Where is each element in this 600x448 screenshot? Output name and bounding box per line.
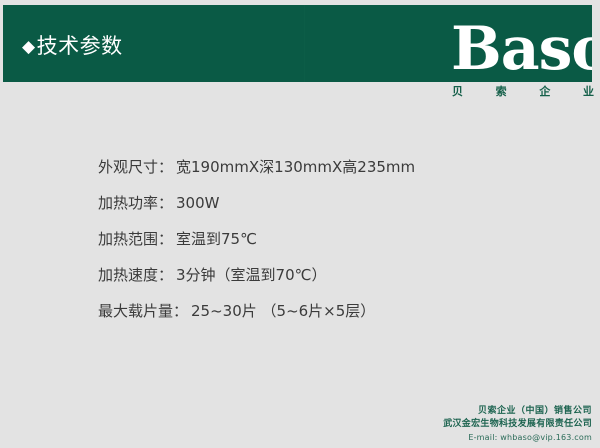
spec-value: 3分钟（室温到70℃） [176, 266, 326, 285]
slide-root: ◆技术参数 Baso 贝 索 企 业 外观尺寸：宽190mmX深130mmX高2… [0, 0, 600, 448]
baso-logo-wordmark: Baso [451, 17, 592, 81]
specification-list: 外观尺寸：宽190mmX深130mmX高235mm 加热功率：300W 加热范围… [98, 158, 538, 338]
footer-company-name: 贝索企业（中国）销售公司 [332, 405, 592, 418]
spec-value: 室温到75℃ [176, 230, 257, 249]
diamond-bullet-icon: ◆ [22, 37, 36, 57]
spec-row: 最大载片量：25~30片 （5~6片×5层） [98, 302, 538, 338]
spec-value: 25~30片 （5~6片×5层） [191, 302, 375, 321]
spec-row: 加热速度：3分钟（室温到70℃） [98, 266, 538, 302]
baso-logo-subtitle: 贝 索 企 业 [452, 85, 594, 99]
spec-label: 加热速度： [98, 266, 173, 285]
logo-subtitle-char-3: 业 [583, 85, 594, 99]
spec-label: 外观尺寸： [98, 158, 173, 177]
page-title: ◆技术参数 [22, 33, 123, 60]
spec-label: 最大载片量： [98, 302, 188, 321]
spec-label: 加热范围： [98, 230, 173, 249]
logo-subtitle-char-1: 索 [496, 85, 507, 99]
footer-entity-name: 武汉金宏生物科技发展有限责任公司 [332, 418, 592, 431]
header-band: ◆技术参数 Baso [3, 5, 592, 82]
spec-row: 加热范围：室温到75℃ [98, 230, 538, 266]
footer: 贝索企业（中国）销售公司 武汉金宏生物科技发展有限责任公司 E-mail: wh… [332, 405, 592, 444]
logo-subtitle-char-2: 企 [539, 85, 550, 99]
spec-value: 300W [176, 194, 219, 213]
spec-value: 宽190mmX深130mmX高235mm [176, 158, 415, 177]
spec-row: 外观尺寸：宽190mmX深130mmX高235mm [98, 158, 538, 194]
spec-label: 加热功率： [98, 194, 173, 213]
spec-row: 加热功率：300W [98, 194, 538, 230]
page-title-label: 技术参数 [37, 34, 123, 58]
logo-subtitle-char-0: 贝 [452, 85, 463, 99]
header-band-seam [304, 5, 305, 82]
footer-email: E-mail: whbaso@vip.163.com [332, 432, 592, 444]
